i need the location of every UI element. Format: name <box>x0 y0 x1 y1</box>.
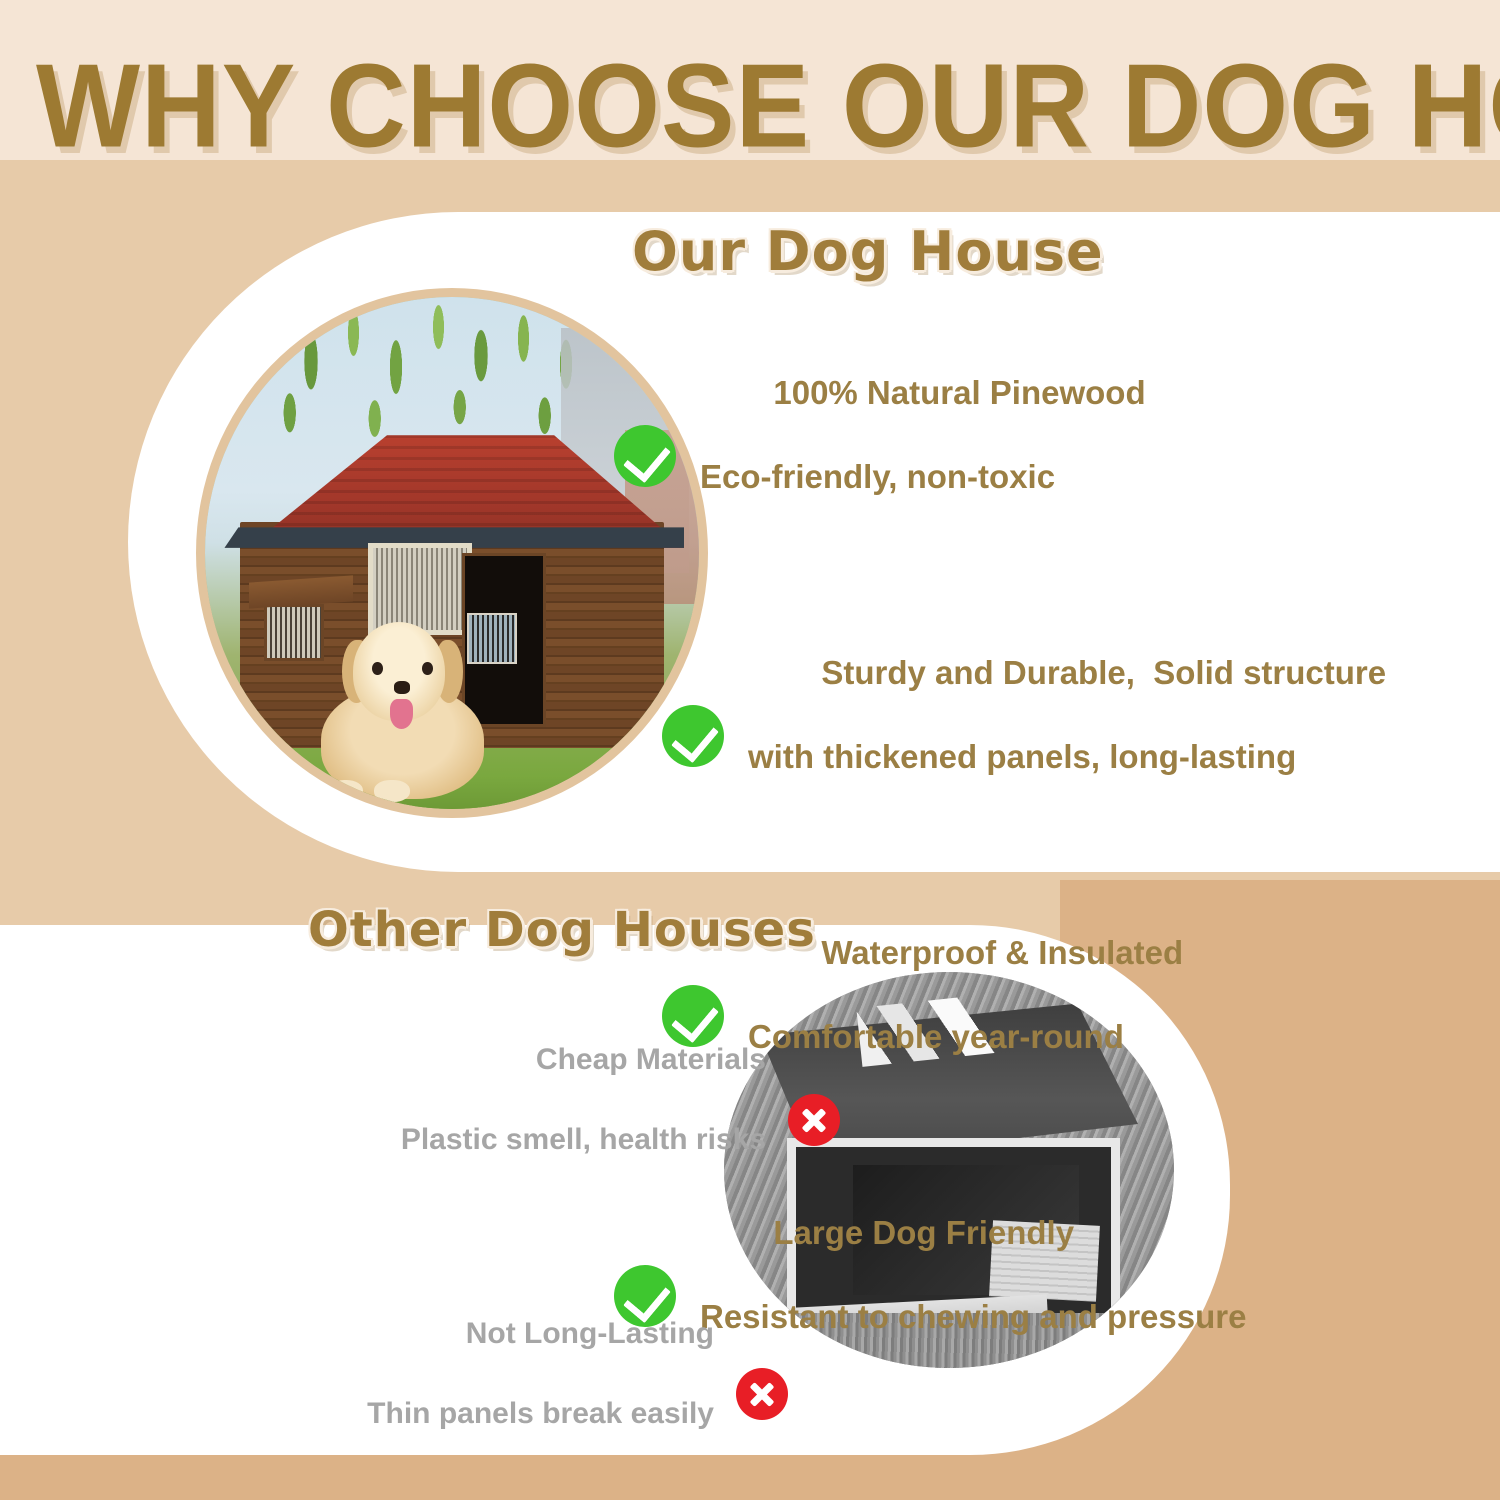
dog-nose <box>394 681 410 694</box>
x-circle-icon <box>788 1094 840 1146</box>
benefit-line2: Eco-friendly, non-toxic <box>700 456 1146 498</box>
benefit-text: 100% Natural Pinewood Eco-friendly, non-… <box>700 330 1146 582</box>
title-banner: WHY CHOOSE OUR DOG HOUSE?" <box>0 46 1500 156</box>
drawback-line1: Cheap Materials <box>536 1043 766 1076</box>
our-dog-house-heading: Our Dog House <box>632 222 1104 282</box>
drawbacks-list: Cheap Materials Plastic smell, health ri… <box>120 1000 840 1500</box>
dog-paw-right <box>374 780 410 802</box>
check-circle-icon <box>662 705 724 767</box>
drawback-text: Not Long-Lasting Thin panels break easil… <box>367 1274 714 1500</box>
drawback-item: Cheap Materials Plastic smell, health ri… <box>120 1000 840 1240</box>
drawback-text: Cheap Materials Plastic smell, health ri… <box>401 1000 766 1240</box>
drawback-item: Not Long-Lasting Thin panels break easil… <box>120 1274 788 1500</box>
drawback-line2: Thin panels break easily <box>367 1394 714 1434</box>
check-circle-icon <box>614 425 676 487</box>
benefit-line1: Sturdy and Durable, Solid structure <box>821 654 1386 691</box>
dog-eye-right <box>422 662 433 675</box>
benefit-text: Sturdy and Durable, Solid structure with… <box>748 610 1386 862</box>
page-title: WHY CHOOSE OUR DOG HOUSE?" <box>36 46 1500 167</box>
benefit-line1: 100% Natural Pinewood <box>773 374 1145 411</box>
benefit-item: 100% Natural Pinewood Eco-friendly, non-… <box>614 330 1414 582</box>
other-dog-houses-heading: Other Dog Houses <box>308 902 816 958</box>
benefit-item: Sturdy and Durable, Solid structure with… <box>662 610 1414 862</box>
infographic-root: WHY CHOOSE OUR DOG HOUSE?" Our Dog House <box>0 0 1500 1500</box>
photo-golden-retriever <box>314 614 492 798</box>
benefit-line2: with thickened panels, long-lasting <box>748 736 1386 778</box>
drawback-line1: Not Long-Lasting <box>466 1317 714 1350</box>
dog-tongue <box>390 699 413 728</box>
drawback-line2: Plastic smell, health risks <box>401 1120 766 1160</box>
x-circle-icon <box>736 1368 788 1420</box>
benefit-line1: Waterproof & Insulated <box>821 934 1183 971</box>
